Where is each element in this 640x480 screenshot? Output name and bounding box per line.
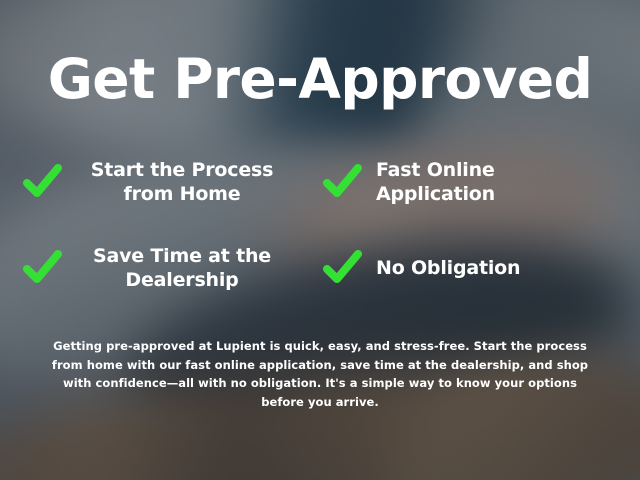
- feature-label: No Obligation: [376, 256, 520, 280]
- feature-item-fast-online-application: Fast OnlineApplication: [320, 139, 620, 225]
- page-title: Get Pre-Approved: [48, 52, 593, 107]
- banner-content: Get Pre-Approved Start the Processfrom H…: [0, 0, 640, 480]
- feature-label: Start the Processfrom Home: [76, 158, 288, 207]
- check-icon: [320, 160, 364, 204]
- check-icon: [20, 246, 64, 290]
- description-paragraph: Getting pre-approved at Lupient is quick…: [50, 337, 590, 412]
- feature-item-start-the-process: Start the Processfrom Home: [20, 139, 320, 225]
- feature-item-save-time-at-the-dealership: Save Time at theDealership: [20, 225, 320, 311]
- check-icon: [20, 160, 64, 204]
- check-icon: [320, 246, 364, 290]
- feature-item-no-obligation: No Obligation: [320, 225, 620, 311]
- feature-label: Save Time at theDealership: [76, 244, 288, 293]
- feature-label: Fast OnlineApplication: [376, 158, 495, 207]
- feature-list: Start the Processfrom Home Fast OnlineAp…: [20, 139, 620, 311]
- pre-approval-banner: Get Pre-Approved Start the Processfrom H…: [0, 0, 640, 480]
